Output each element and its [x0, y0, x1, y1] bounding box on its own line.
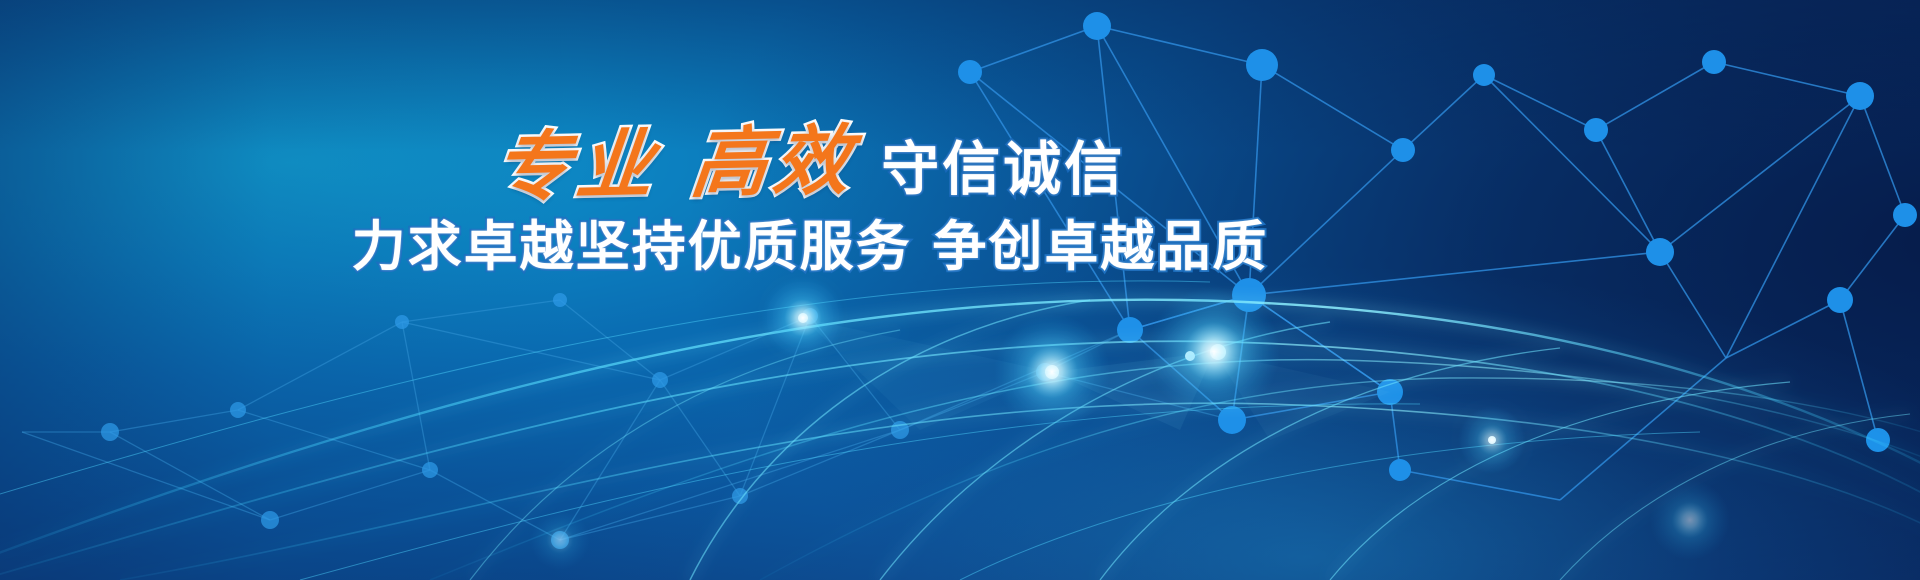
globe-arc-layer [0, 0, 1920, 580]
banner-copy: 专业 高效 守信诚信 力求卓越坚持优质服务 争创卓越品质 [0, 126, 1920, 274]
globe-arc-group [0, 300, 1920, 580]
promo-banner: 专业 高效 守信诚信 力求卓越坚持优质服务 争创卓越品质 [0, 0, 1920, 580]
glow-node-group [530, 276, 1730, 570]
headline-secondary: 守信诚信 [881, 140, 1125, 198]
globe-arc-group-thin [0, 281, 1700, 580]
headline-accent: 专业 高效 [490, 122, 885, 206]
subheadline-line: 力求卓越坚持优质服务 争创卓越品质 [0, 220, 1770, 274]
headline-line: 专业 高效 守信诚信 [0, 126, 1770, 202]
subheadline-text: 力求卓越坚持优质服务 争创卓越品质 [352, 215, 1269, 278]
